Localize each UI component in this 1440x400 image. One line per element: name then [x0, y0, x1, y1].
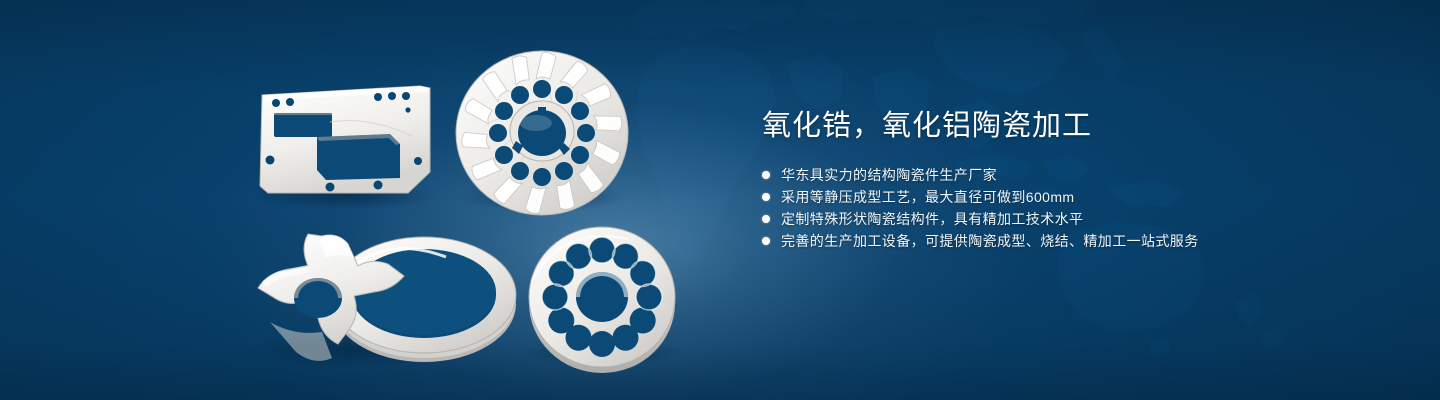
- ceramic-perforated-disc-shape: [529, 227, 675, 373]
- ceramic-ring-shape: [332, 237, 516, 362]
- feature-item-label: 完善的生产加工设备，可提供陶瓷成型、烧结、精加工一站式服务: [781, 230, 1199, 252]
- bullet-circle-icon: [762, 171, 770, 179]
- feature-list-item: 定制特殊形状陶瓷结构件，具有精加工技术水平: [762, 208, 1382, 230]
- feature-list-item: 完善的生产加工设备，可提供陶瓷成型、烧结、精加工一站式服务: [762, 230, 1382, 252]
- ceramic-impeller-disc-shape: [456, 51, 628, 215]
- feature-item-label: 华东具实力的结构陶瓷件生产厂家: [781, 164, 997, 186]
- ceramic-mounting-plate-shape: [260, 86, 430, 193]
- feature-list-item: 华东具实力的结构陶瓷件生产厂家: [762, 164, 1382, 186]
- feature-item-label: 定制特殊形状陶瓷结构件，具有精加工技术水平: [781, 208, 1083, 230]
- feature-list-item: 采用等静压成型工艺，最大直径可做到600mm: [762, 186, 1382, 208]
- ceramic-processing-banner: 氧化锆，氧化铝陶瓷加工 华东具实力的结构陶瓷件生产厂家 采用等静压成型工艺，最大…: [0, 0, 1440, 400]
- bullet-circle-icon: [762, 237, 770, 245]
- bullet-circle-icon: [762, 215, 770, 223]
- banner-feature-list: 华东具实力的结构陶瓷件生产厂家 采用等静压成型工艺，最大直径可做到600mm 定…: [762, 164, 1382, 252]
- banner-headline: 氧化锆，氧化铝陶瓷加工: [762, 106, 1382, 146]
- ceramic-products-photo: [0, 0, 720, 400]
- bullet-circle-icon: [762, 193, 770, 201]
- feature-item-label: 采用等静压成型工艺，最大直径可做到600mm: [781, 186, 1074, 208]
- banner-copy-block: 氧化锆，氧化铝陶瓷加工 华东具实力的结构陶瓷件生产厂家 采用等静压成型工艺，最大…: [762, 106, 1382, 252]
